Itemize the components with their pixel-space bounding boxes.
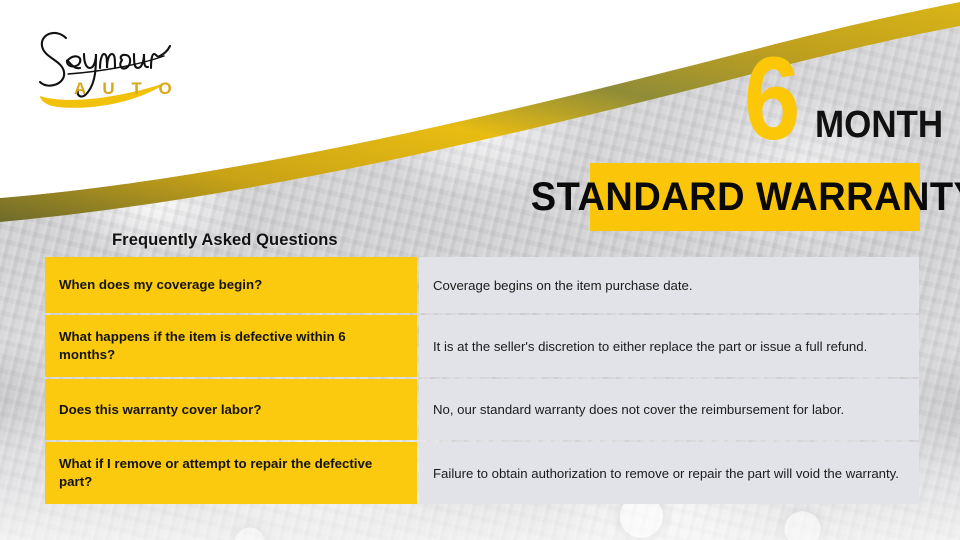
- table-row: Does this warranty cover labor? No, our …: [45, 379, 919, 440]
- standard-warranty-label: STANDARD WARRANTY: [531, 177, 960, 217]
- faq-answer-text: Coverage begins on the item purchase dat…: [433, 276, 903, 295]
- faq-question-cell: Does this warranty cover labor?: [45, 379, 417, 440]
- faq-question-cell: When does my coverage begin?: [45, 257, 417, 313]
- standard-warranty-banner: STANDARD WARRANTY: [590, 163, 920, 231]
- table-row: When does my coverage begin? Coverage be…: [45, 257, 919, 313]
- faq-answer-cell: No, our standard warranty does not cover…: [419, 379, 919, 440]
- faq-question-text: What happens if the item is defective wi…: [59, 328, 403, 364]
- duration-unit: MONTH: [815, 106, 943, 144]
- faq-answer-text: No, our standard warranty does not cover…: [433, 400, 903, 419]
- svg-text:A U T O: A U T O: [74, 79, 178, 98]
- faq-answer-text: It is at the seller's discretion to eith…: [433, 337, 903, 356]
- faq-table: When does my coverage begin? Coverage be…: [45, 257, 919, 504]
- faq-question-text: What if I remove or attempt to repair th…: [59, 455, 403, 491]
- faq-title: Frequently Asked Questions: [112, 231, 338, 250]
- table-row: What if I remove or attempt to repair th…: [45, 442, 919, 504]
- seymour-auto-logo: A U T O: [18, 20, 190, 112]
- faq-answer-cell: Failure to obtain authorization to remov…: [419, 442, 919, 504]
- faq-question-text: When does my coverage begin?: [59, 276, 262, 294]
- table-row: What happens if the item is defective wi…: [45, 315, 919, 377]
- faq-question-cell: What if I remove or attempt to repair th…: [45, 442, 417, 504]
- faq-answer-cell: Coverage begins on the item purchase dat…: [419, 257, 919, 313]
- faq-question-cell: What happens if the item is defective wi…: [45, 315, 417, 377]
- faq-answer-cell: It is at the seller's discretion to eith…: [419, 315, 919, 377]
- faq-answer-text: Failure to obtain authorization to remov…: [433, 464, 903, 483]
- duration-number: 6: [744, 40, 799, 158]
- warranty-slide: A U T O 6 MONTH STANDARD WARRANTY Freque…: [0, 0, 960, 540]
- faq-question-text: Does this warranty cover labor?: [59, 401, 261, 419]
